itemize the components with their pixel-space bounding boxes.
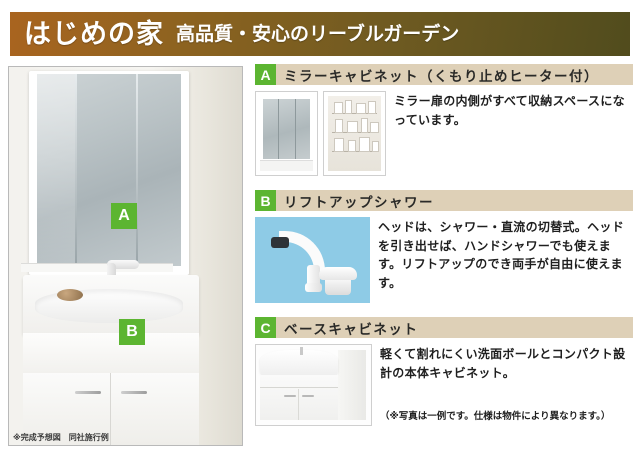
photo-caption: ※完成予想図 同社施行例	[13, 432, 109, 443]
cabinet-seam	[260, 387, 338, 388]
interior-item	[348, 140, 356, 152]
section-b: B リフトアップシャワー ヘッドは、シャワー・直流の切替式。ヘッドを引き出せば、…	[255, 190, 633, 303]
photo-badge-a: A	[111, 203, 137, 229]
section-b-body: ヘッドは、シャワー・直流の切替式。ヘッドを引き出せば、ハンドシャワーでも使えます…	[255, 211, 633, 303]
basin-counter	[260, 350, 338, 376]
page-root: はじめの家 高品質・安心のリーブルガーデン A B C ※完成予想図 同社施行例	[0, 0, 640, 453]
section-c-badge: C	[255, 317, 276, 338]
section-a-badge: A	[255, 64, 276, 85]
cabinet-interior	[328, 96, 381, 171]
cabinet-body	[260, 375, 338, 420]
interior-item	[356, 103, 366, 114]
section-a: A ミラーキャビネット（くもり止めヒーター付）	[255, 64, 633, 176]
page-title: はじめの家	[24, 21, 164, 48]
section-c-header: C ベースキャビネット	[255, 317, 633, 338]
section-a-header: A ミラーキャビネット（くもり止めヒーター付）	[255, 64, 633, 85]
interior-item	[335, 119, 343, 133]
section-a-body: ミラー扉の内側がすべて収納スペースになっています。	[255, 85, 633, 176]
interior-item	[334, 138, 344, 152]
mirror-cabinet-front	[263, 99, 310, 159]
cabinet-handle-right	[121, 391, 147, 394]
section-b-text: ヘッドは、シャワー・直流の切替式。ヘッドを引き出せば、ハンドシャワーでも使えます…	[370, 217, 633, 303]
section-c: C ベースキャビネット 軽くて割れにくい洗面ボールとコンパクト設計の本体キャビネ…	[255, 317, 633, 426]
page-header: はじめの家 高品質・安心のリーブルガーデン	[10, 12, 630, 56]
section-a-text: ミラー扉の内側がすべて収納スペースになっています。	[386, 91, 633, 176]
lift-up-shower-image	[255, 217, 370, 303]
interior-item	[368, 101, 376, 114]
cabinet-door-split	[298, 389, 299, 420]
cabinet-side-panel	[338, 350, 366, 420]
cabinet-handle-left	[75, 391, 101, 394]
interior-item	[347, 121, 358, 133]
mirror-surface	[37, 74, 181, 266]
interior-item	[345, 100, 352, 114]
section-a-images	[255, 91, 386, 176]
section-c-title: ベースキャビネット	[276, 317, 418, 338]
mirror-shelf	[21, 263, 173, 272]
interior-item	[334, 102, 343, 114]
base-cabinet-handle-left	[284, 395, 296, 397]
mixer-lever	[319, 267, 357, 280]
mirror-cabinet-photo-part	[29, 71, 189, 275]
feature-sections: A ミラーキャビネット（くもり止めヒーター付）	[255, 64, 633, 434]
photo-badge-b: B	[119, 319, 145, 345]
base-cabinet-image	[255, 344, 372, 426]
shower-head	[271, 237, 289, 248]
interior-item	[359, 137, 370, 152]
mirror-cabinet-closed-image	[255, 91, 318, 176]
section-c-text: 軽くて割れにくい洗面ボールとコンパクト設計の本体キャビネット。	[372, 344, 633, 382]
section-b-header: B リフトアップシャワー	[255, 190, 633, 211]
main-vanity-photo: A B C ※完成予想図 同社施行例	[8, 66, 243, 446]
section-a-title: ミラーキャビネット（くもり止めヒーター付）	[276, 64, 599, 85]
base-cabinet-handle-right	[302, 395, 314, 397]
mirror-sheen	[37, 74, 75, 266]
interior-item	[361, 118, 368, 133]
mirror-cabinet-open-image	[323, 91, 386, 176]
shower-stem-collar	[305, 283, 322, 292]
basin-accessory	[57, 289, 83, 301]
counter-tap	[300, 347, 303, 355]
cabinet-drawer	[23, 333, 199, 374]
disclaimer-note: （※写真は一例です。仕様は物件により異なります。）	[372, 408, 633, 422]
interior-item	[372, 141, 379, 152]
section-c-body: 軽くて割れにくい洗面ボールとコンパクト設計の本体キャビネット。 （※写真は一例で…	[255, 338, 633, 426]
section-b-badge: B	[255, 190, 276, 211]
mirror-cabinet-base	[260, 160, 313, 171]
section-b-title: リフトアップシャワー	[276, 190, 434, 211]
page-subtitle: 高品質・安心のリーブルガーデン	[176, 25, 459, 44]
interior-item	[370, 122, 379, 133]
